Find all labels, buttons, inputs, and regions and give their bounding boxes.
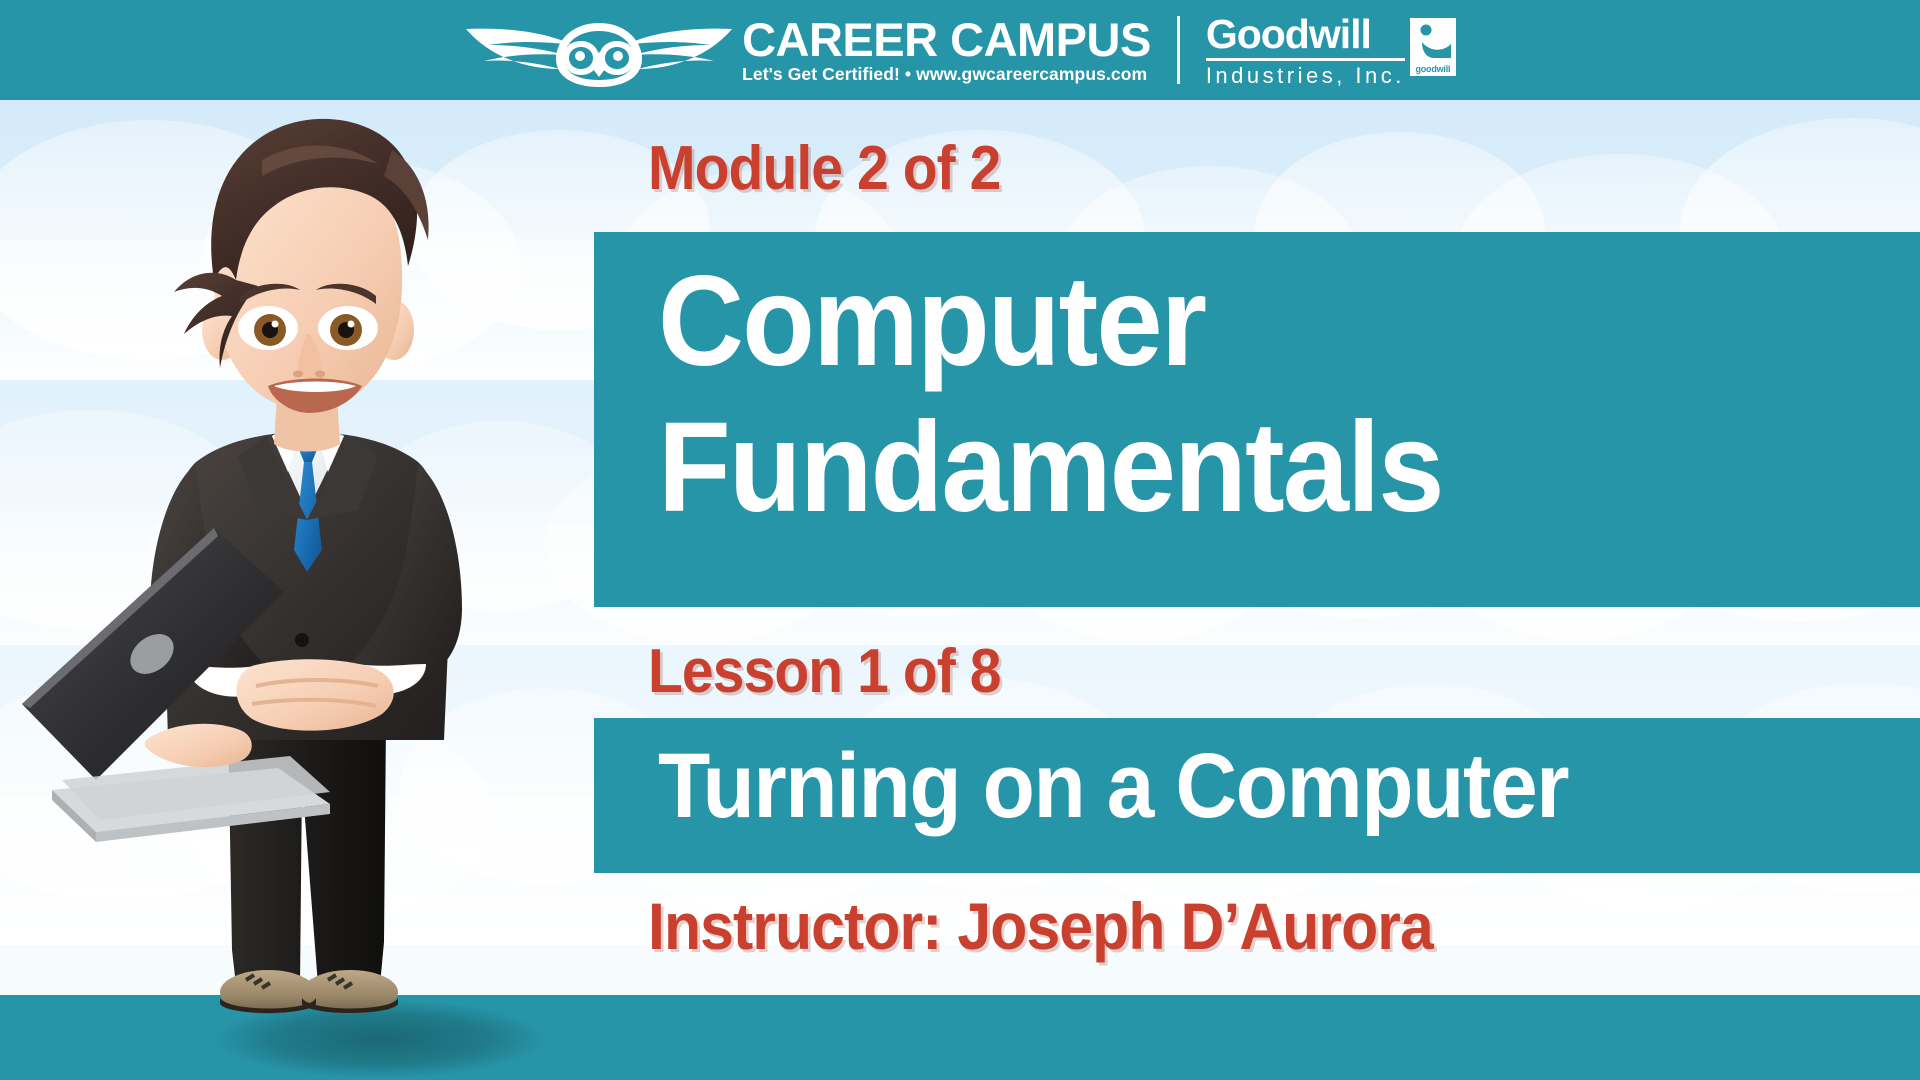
lesson-label: Lesson 1 of 8 [648, 636, 1001, 707]
partner-subtitle: Industries, Inc. [1206, 65, 1405, 87]
logo-row: CAREER CAMPUS Let's Get Certified! • www… [0, 0, 1920, 100]
instructor-label: Instructor: Joseph D’Aurora [648, 888, 1433, 964]
partner-text: Goodwill Industries, Inc. [1206, 14, 1405, 87]
businessman-with-laptop-illustration [0, 80, 620, 1070]
lesson-title: Turning on a Computer [658, 740, 1568, 832]
partner-name: Goodwill [1206, 14, 1405, 55]
module-label: Module 2 of 2 [648, 133, 1000, 204]
partner-rule [1206, 58, 1405, 61]
owl-wings-icon [464, 11, 734, 89]
course-title-line2: Fundamentals [658, 404, 1443, 532]
goodwill-smile-g-icon: goodwill [1410, 18, 1456, 76]
brand-tagline: Let's Get Certified! • www.gwcareercampu… [742, 66, 1151, 84]
course-title-line1: Computer [658, 258, 1205, 386]
brand-text: CAREER CAMPUS Let's Get Certified! • www… [742, 16, 1151, 84]
brand-name: CAREER CAMPUS [742, 16, 1151, 63]
logo-divider [1177, 16, 1180, 84]
slide-canvas: CAREER CAMPUS Let's Get Certified! • www… [0, 0, 1920, 1080]
partner-logo: Goodwill Industries, Inc. goodwill [1206, 14, 1456, 87]
goodwill-mark-label: goodwill [1410, 64, 1456, 74]
header-bar: CAREER CAMPUS Let's Get Certified! • www… [0, 0, 1920, 100]
